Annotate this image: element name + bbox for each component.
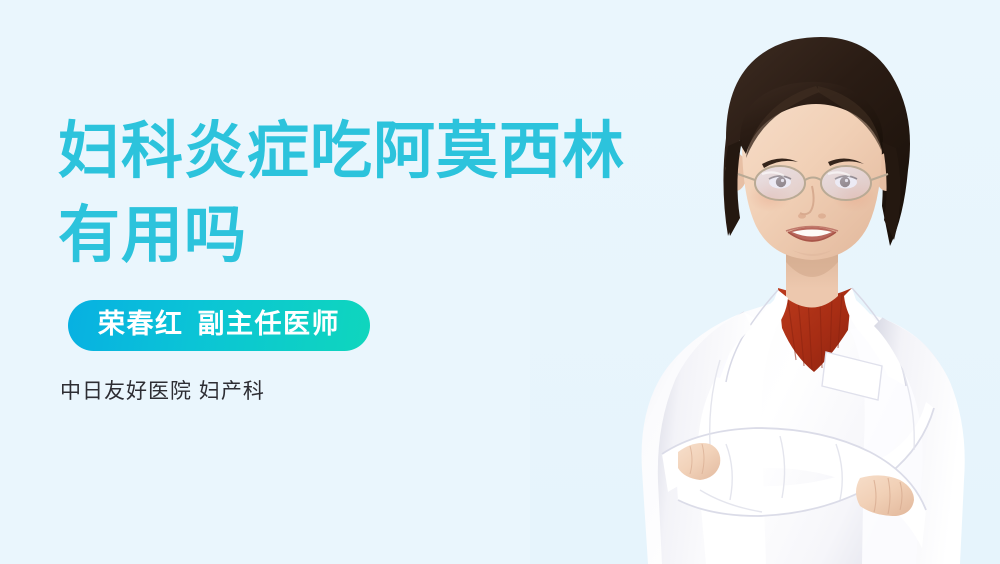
doctor-name: 荣春红 [98,309,184,339]
hospital-department-line: 中日友好医院 妇产科 [60,375,658,405]
doctor-credential-badge: 荣春红副主任医师 [68,300,370,351]
video-title-line-1: 妇科炎症吃阿莫西林 [58,110,658,194]
video-title-line-2: 有用吗 [58,194,658,278]
video-thumbnail-canvas: 妇科炎症吃阿莫西林 有用吗 荣春红副主任医师 中日友好医院 妇产科 [0,0,1000,564]
doctor-professional-title: 副主任医师 [198,309,341,339]
text-overlay-block: 妇科炎症吃阿莫西林 有用吗 荣春红副主任医师 中日友好医院 妇产科 [58,110,658,405]
